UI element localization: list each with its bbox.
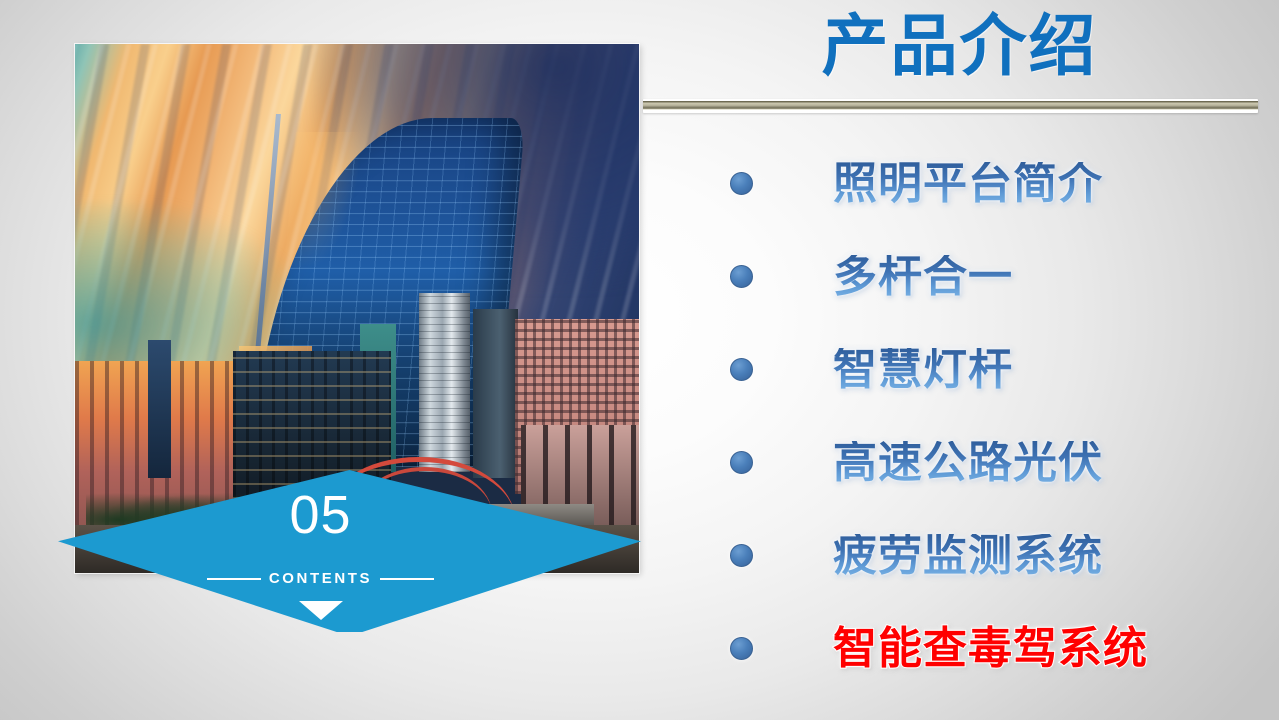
bullet-dot-icon bbox=[730, 172, 753, 195]
rule-right-line bbox=[380, 578, 434, 580]
list-item-label: 智能查毒驾系统 bbox=[833, 627, 1148, 671]
list-item[interactable]: 高速公路光伏 bbox=[700, 416, 1260, 509]
slide-root: 05 CONTENTS 产品介绍 照明平台简介 多杆合一 智慧灯杆 高速公路光伏 bbox=[0, 0, 1279, 720]
list-item[interactable]: 智慧灯杆 bbox=[700, 323, 1260, 416]
list-item[interactable]: 多杆合一 bbox=[700, 230, 1260, 323]
down-caret-icon bbox=[0, 601, 641, 625]
agenda-list: 照明平台简介 多杆合一 智慧灯杆 高速公路光伏 疲劳监测系统 智能查毒驾系统 bbox=[700, 137, 1260, 695]
title-divider-bar bbox=[643, 99, 1258, 113]
section-number: 05 bbox=[0, 488, 641, 542]
list-item-label: 照明平台简介 bbox=[833, 162, 1103, 206]
silver-tower bbox=[419, 293, 470, 473]
contents-label: CONTENTS bbox=[269, 570, 372, 587]
dark-tower bbox=[473, 309, 518, 478]
contents-label-group: CONTENTS bbox=[0, 570, 641, 587]
bullet-dot-icon bbox=[730, 265, 753, 288]
page-title: 产品介绍 bbox=[640, 5, 1279, 89]
list-item-label: 智慧灯杆 bbox=[833, 348, 1013, 392]
bullet-dot-icon bbox=[730, 637, 753, 660]
bullet-dot-icon bbox=[730, 544, 753, 567]
glass-highlight bbox=[283, 132, 363, 272]
caret-triangle bbox=[299, 601, 343, 620]
bullet-dot-icon bbox=[730, 358, 753, 381]
list-item-label: 高速公路光伏 bbox=[833, 441, 1103, 485]
spire-tower bbox=[148, 340, 171, 478]
list-item[interactable]: 智能查毒驾系统 bbox=[700, 602, 1260, 695]
rule-left-line bbox=[207, 578, 261, 580]
list-item-label: 多杆合一 bbox=[833, 255, 1013, 299]
list-item[interactable]: 疲劳监测系统 bbox=[700, 509, 1260, 602]
list-item[interactable]: 照明平台简介 bbox=[700, 137, 1260, 230]
bullet-dot-icon bbox=[730, 451, 753, 474]
list-item-label: 疲劳监测系统 bbox=[833, 534, 1103, 578]
